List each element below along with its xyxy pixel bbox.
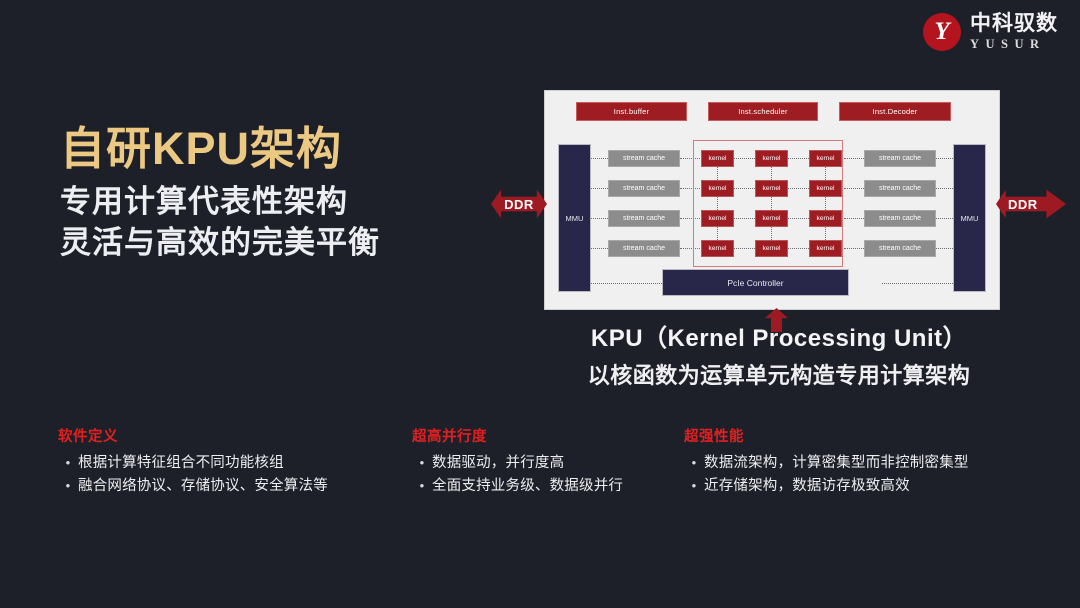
kernel-box: kernel bbox=[701, 240, 734, 257]
logo-text: 中科驭数 YUSUR bbox=[970, 13, 1058, 51]
stream-cache-box: stream cache bbox=[608, 180, 680, 197]
kernel-box: kernel bbox=[809, 240, 842, 257]
feature-bullet-text: 数据驱动，并行度高 bbox=[432, 452, 564, 475]
connector-line bbox=[936, 188, 953, 189]
headline-subtitle-2: 灵活与高效的完美平衡 bbox=[60, 223, 490, 264]
feature-bullet-item: • 根据计算特征组合不同功能核组 bbox=[58, 452, 408, 475]
connector-line bbox=[717, 167, 718, 180]
feature-bullet-item: • 全面支持业务级、数据级并行 bbox=[412, 475, 682, 498]
kernel-box: kernel bbox=[809, 180, 842, 197]
mmu-right-box: MMU bbox=[953, 144, 986, 292]
connector-line bbox=[591, 283, 662, 284]
feature-bullet-item: • 数据流架构，计算密集型而非控制密集型 bbox=[684, 452, 1074, 475]
ddr-left-arrow: DDR bbox=[491, 189, 547, 219]
stream-cache-box: stream cache bbox=[864, 180, 936, 197]
inst-scheduler-box: Inst.scheduler bbox=[708, 102, 818, 121]
kernel-box: kernel bbox=[809, 210, 842, 227]
stream-cache-box: stream cache bbox=[864, 210, 936, 227]
kernel-box: kernel bbox=[701, 210, 734, 227]
connector-line bbox=[734, 248, 755, 249]
caption-title: KPU（Kernel Processing Unit） bbox=[544, 318, 1014, 353]
connector-line bbox=[788, 248, 809, 249]
headline-subtitle-1: 专用计算代表性架构 bbox=[60, 182, 490, 223]
connector-line bbox=[734, 188, 755, 189]
connector-line bbox=[771, 227, 772, 240]
bullet-icon: • bbox=[684, 475, 704, 496]
feature-bullet-item: • 融合网络协议、存储协议、安全算法等 bbox=[58, 475, 408, 498]
feature-bullet-text: 近存储架构，数据访存极致高效 bbox=[704, 475, 910, 498]
feature-columns: 软件定义 • 根据计算特征组合不同功能核组 • 融合网络协议、存储协议、安全算法… bbox=[0, 425, 1080, 535]
pcie-controller-box: PcIe Controller bbox=[662, 269, 849, 296]
stream-cache-box: stream cache bbox=[864, 150, 936, 167]
ddr-right-arrow: DDR bbox=[996, 189, 1066, 219]
connector-line bbox=[717, 197, 718, 210]
connector-line bbox=[771, 167, 772, 180]
diagram-panel: Inst.buffer Inst.scheduler Inst.Decoder … bbox=[544, 90, 1000, 310]
kernel-box: kernel bbox=[755, 180, 788, 197]
inst-buffer-box: Inst.buffer bbox=[576, 102, 687, 121]
connector-line bbox=[591, 158, 608, 159]
kernel-box: kernel bbox=[701, 150, 734, 167]
headline-block: 自研KPU架构 专用计算代表性架构 灵活与高效的完美平衡 bbox=[60, 122, 490, 264]
connector-line bbox=[825, 167, 826, 180]
feature-heading: 超强性能 bbox=[684, 425, 1074, 446]
connector-line bbox=[788, 218, 809, 219]
connector-line bbox=[771, 197, 772, 210]
connector-line bbox=[788, 188, 809, 189]
kernel-box: kernel bbox=[755, 150, 788, 167]
stream-cache-box: stream cache bbox=[864, 240, 936, 257]
connector-line bbox=[591, 248, 608, 249]
feature-bullet-item: • 数据驱动，并行度高 bbox=[412, 452, 682, 475]
bullet-icon: • bbox=[684, 452, 704, 473]
brand-logo: Y 中科驭数 YUSUR bbox=[923, 13, 1058, 51]
connector-line bbox=[844, 158, 864, 159]
kernel-box: kernel bbox=[755, 210, 788, 227]
stream-cache-box: stream cache bbox=[608, 150, 680, 167]
stream-cache-box: stream cache bbox=[608, 240, 680, 257]
connector-line bbox=[788, 158, 809, 159]
feature-bullet-text: 融合网络协议、存储协议、安全算法等 bbox=[78, 475, 328, 498]
feature-bullet-text: 全面支持业务级、数据级并行 bbox=[432, 475, 623, 498]
stream-cache-box: stream cache bbox=[608, 210, 680, 227]
connector-line bbox=[825, 227, 826, 240]
connector-line bbox=[717, 227, 718, 240]
connector-line bbox=[936, 158, 953, 159]
kernel-box: kernel bbox=[701, 180, 734, 197]
diagram-caption: KPU（Kernel Processing Unit） 以核函数为运算单元构造专… bbox=[544, 318, 1014, 390]
slide-root: Y 中科驭数 YUSUR 自研KPU架构 专用计算代表性架构 灵活与高效的完美平… bbox=[0, 0, 1080, 608]
bullet-icon: • bbox=[412, 475, 432, 496]
inst-decoder-box: Inst.Decoder bbox=[839, 102, 951, 121]
feature-column-software-defined: 软件定义 • 根据计算特征组合不同功能核组 • 融合网络协议、存储协议、安全算法… bbox=[58, 425, 408, 499]
connector-line bbox=[936, 218, 953, 219]
connector-line bbox=[825, 197, 826, 210]
logo-mark-icon: Y bbox=[923, 13, 961, 51]
feature-column-performance: 超强性能 • 数据流架构，计算密集型而非控制密集型 • 近存储架构，数据访存极致… bbox=[684, 425, 1074, 499]
kernel-box: kernel bbox=[755, 240, 788, 257]
connector-line bbox=[734, 218, 755, 219]
feature-bullet-text: 根据计算特征组合不同功能核组 bbox=[78, 452, 284, 475]
page-title: 自研KPU架构 bbox=[60, 122, 490, 175]
caption-subtitle: 以核函数为运算单元构造专用计算架构 bbox=[544, 358, 1014, 390]
feature-column-parallelism: 超高并行度 • 数据驱动，并行度高 • 全面支持业务级、数据级并行 bbox=[412, 425, 682, 499]
kernel-box: kernel bbox=[809, 150, 842, 167]
feature-bullet-item: • 近存储架构，数据访存极致高效 bbox=[684, 475, 1074, 498]
logo-text-en: YUSUR bbox=[970, 38, 1058, 51]
connector-line bbox=[882, 283, 953, 284]
connector-line bbox=[936, 248, 953, 249]
bullet-icon: • bbox=[58, 475, 78, 496]
bullet-icon: • bbox=[412, 452, 432, 473]
feature-heading: 软件定义 bbox=[58, 425, 408, 446]
feature-bullet-text: 数据流架构，计算密集型而非控制密集型 bbox=[704, 452, 969, 475]
mmu-left-box: MMU bbox=[558, 144, 591, 292]
logo-text-cn: 中科驭数 bbox=[970, 13, 1058, 34]
feature-heading: 超高并行度 bbox=[412, 425, 682, 446]
connector-line bbox=[734, 158, 755, 159]
connector-line bbox=[591, 218, 608, 219]
connector-line bbox=[844, 248, 864, 249]
connector-line bbox=[844, 218, 864, 219]
kpu-architecture-diagram: Inst.buffer Inst.scheduler Inst.Decoder … bbox=[544, 90, 1000, 310]
connector-line bbox=[844, 188, 864, 189]
connector-line bbox=[591, 188, 608, 189]
bullet-icon: • bbox=[58, 452, 78, 473]
logo-y-glyph: Y bbox=[923, 19, 961, 44]
